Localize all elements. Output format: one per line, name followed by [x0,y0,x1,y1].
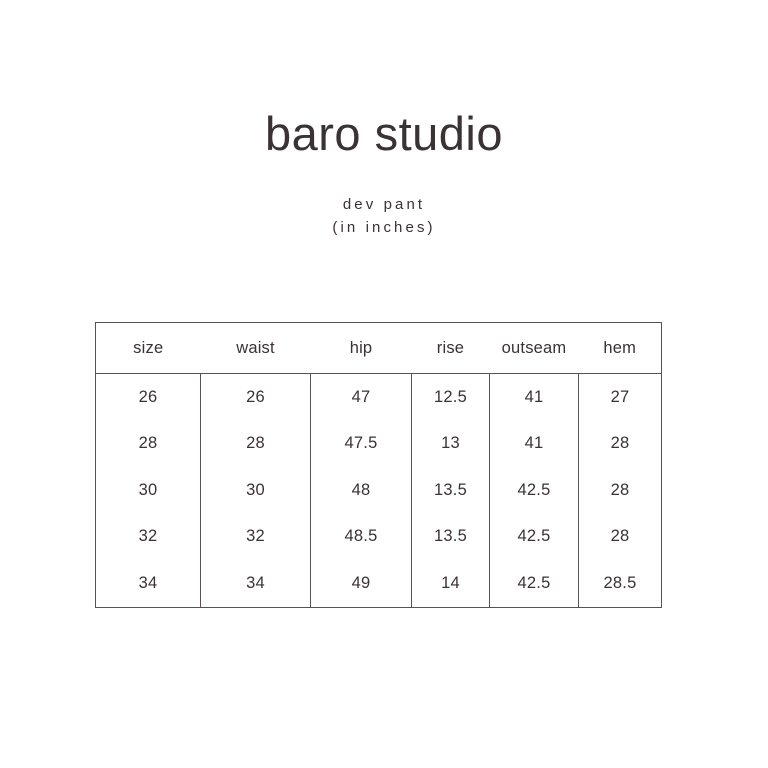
column-header-rise: rise [412,323,490,374]
cell-size: 30 [96,467,201,514]
cell-hip: 47 [311,374,412,421]
cell-outseam: 42.5 [490,514,579,561]
cell-rise: 13.5 [412,514,490,561]
column-header-hem: hem [579,323,662,374]
cell-size: 26 [96,374,201,421]
cell-rise: 14 [412,560,490,607]
column-header-size: size [96,323,201,374]
cell-rise: 13.5 [412,467,490,514]
brand-title: baro studio [0,108,768,161]
size-chart-page: baro studio dev pant (in inches) size wa… [0,0,768,768]
cell-outseam: 42.5 [490,560,579,607]
column-header-hip: hip [311,323,412,374]
cell-hem: 27 [579,374,662,421]
cell-size: 28 [96,421,201,468]
table-body: 26 26 47 12.5 41 27 28 28 47.5 13 41 28 … [96,374,662,608]
product-name: dev pant [0,193,768,216]
cell-outseam: 41 [490,421,579,468]
cell-hip: 48.5 [311,514,412,561]
subtitle-block: dev pant (in inches) [0,193,768,240]
cell-hip: 48 [311,467,412,514]
units-label: (in inches) [0,216,768,239]
cell-hem: 28 [579,514,662,561]
column-header-waist: waist [201,323,311,374]
table-row: 32 32 48.5 13.5 42.5 28 [96,514,662,561]
cell-rise: 13 [412,421,490,468]
size-chart-table: size waist hip rise outseam hem 26 26 47… [95,322,662,608]
cell-waist: 30 [201,467,311,514]
cell-outseam: 42.5 [490,467,579,514]
cell-outseam: 41 [490,374,579,421]
cell-hem: 28.5 [579,560,662,607]
table-header: size waist hip rise outseam hem [96,323,662,374]
cell-rise: 12.5 [412,374,490,421]
cell-size: 34 [96,560,201,607]
column-header-outseam: outseam [490,323,579,374]
cell-hem: 28 [579,421,662,468]
cell-hip: 49 [311,560,412,607]
table-row: 30 30 48 13.5 42.5 28 [96,467,662,514]
cell-hip: 47.5 [311,421,412,468]
cell-hem: 28 [579,467,662,514]
table-row: 34 34 49 14 42.5 28.5 [96,560,662,607]
cell-size: 32 [96,514,201,561]
brand-header: baro studio [0,108,768,161]
cell-waist: 32 [201,514,311,561]
cell-waist: 34 [201,560,311,607]
cell-waist: 28 [201,421,311,468]
table-row: 26 26 47 12.5 41 27 [96,374,662,421]
cell-waist: 26 [201,374,311,421]
table-header-row: size waist hip rise outseam hem [96,323,662,374]
table-row: 28 28 47.5 13 41 28 [96,421,662,468]
size-chart-table-container: size waist hip rise outseam hem 26 26 47… [95,322,661,606]
